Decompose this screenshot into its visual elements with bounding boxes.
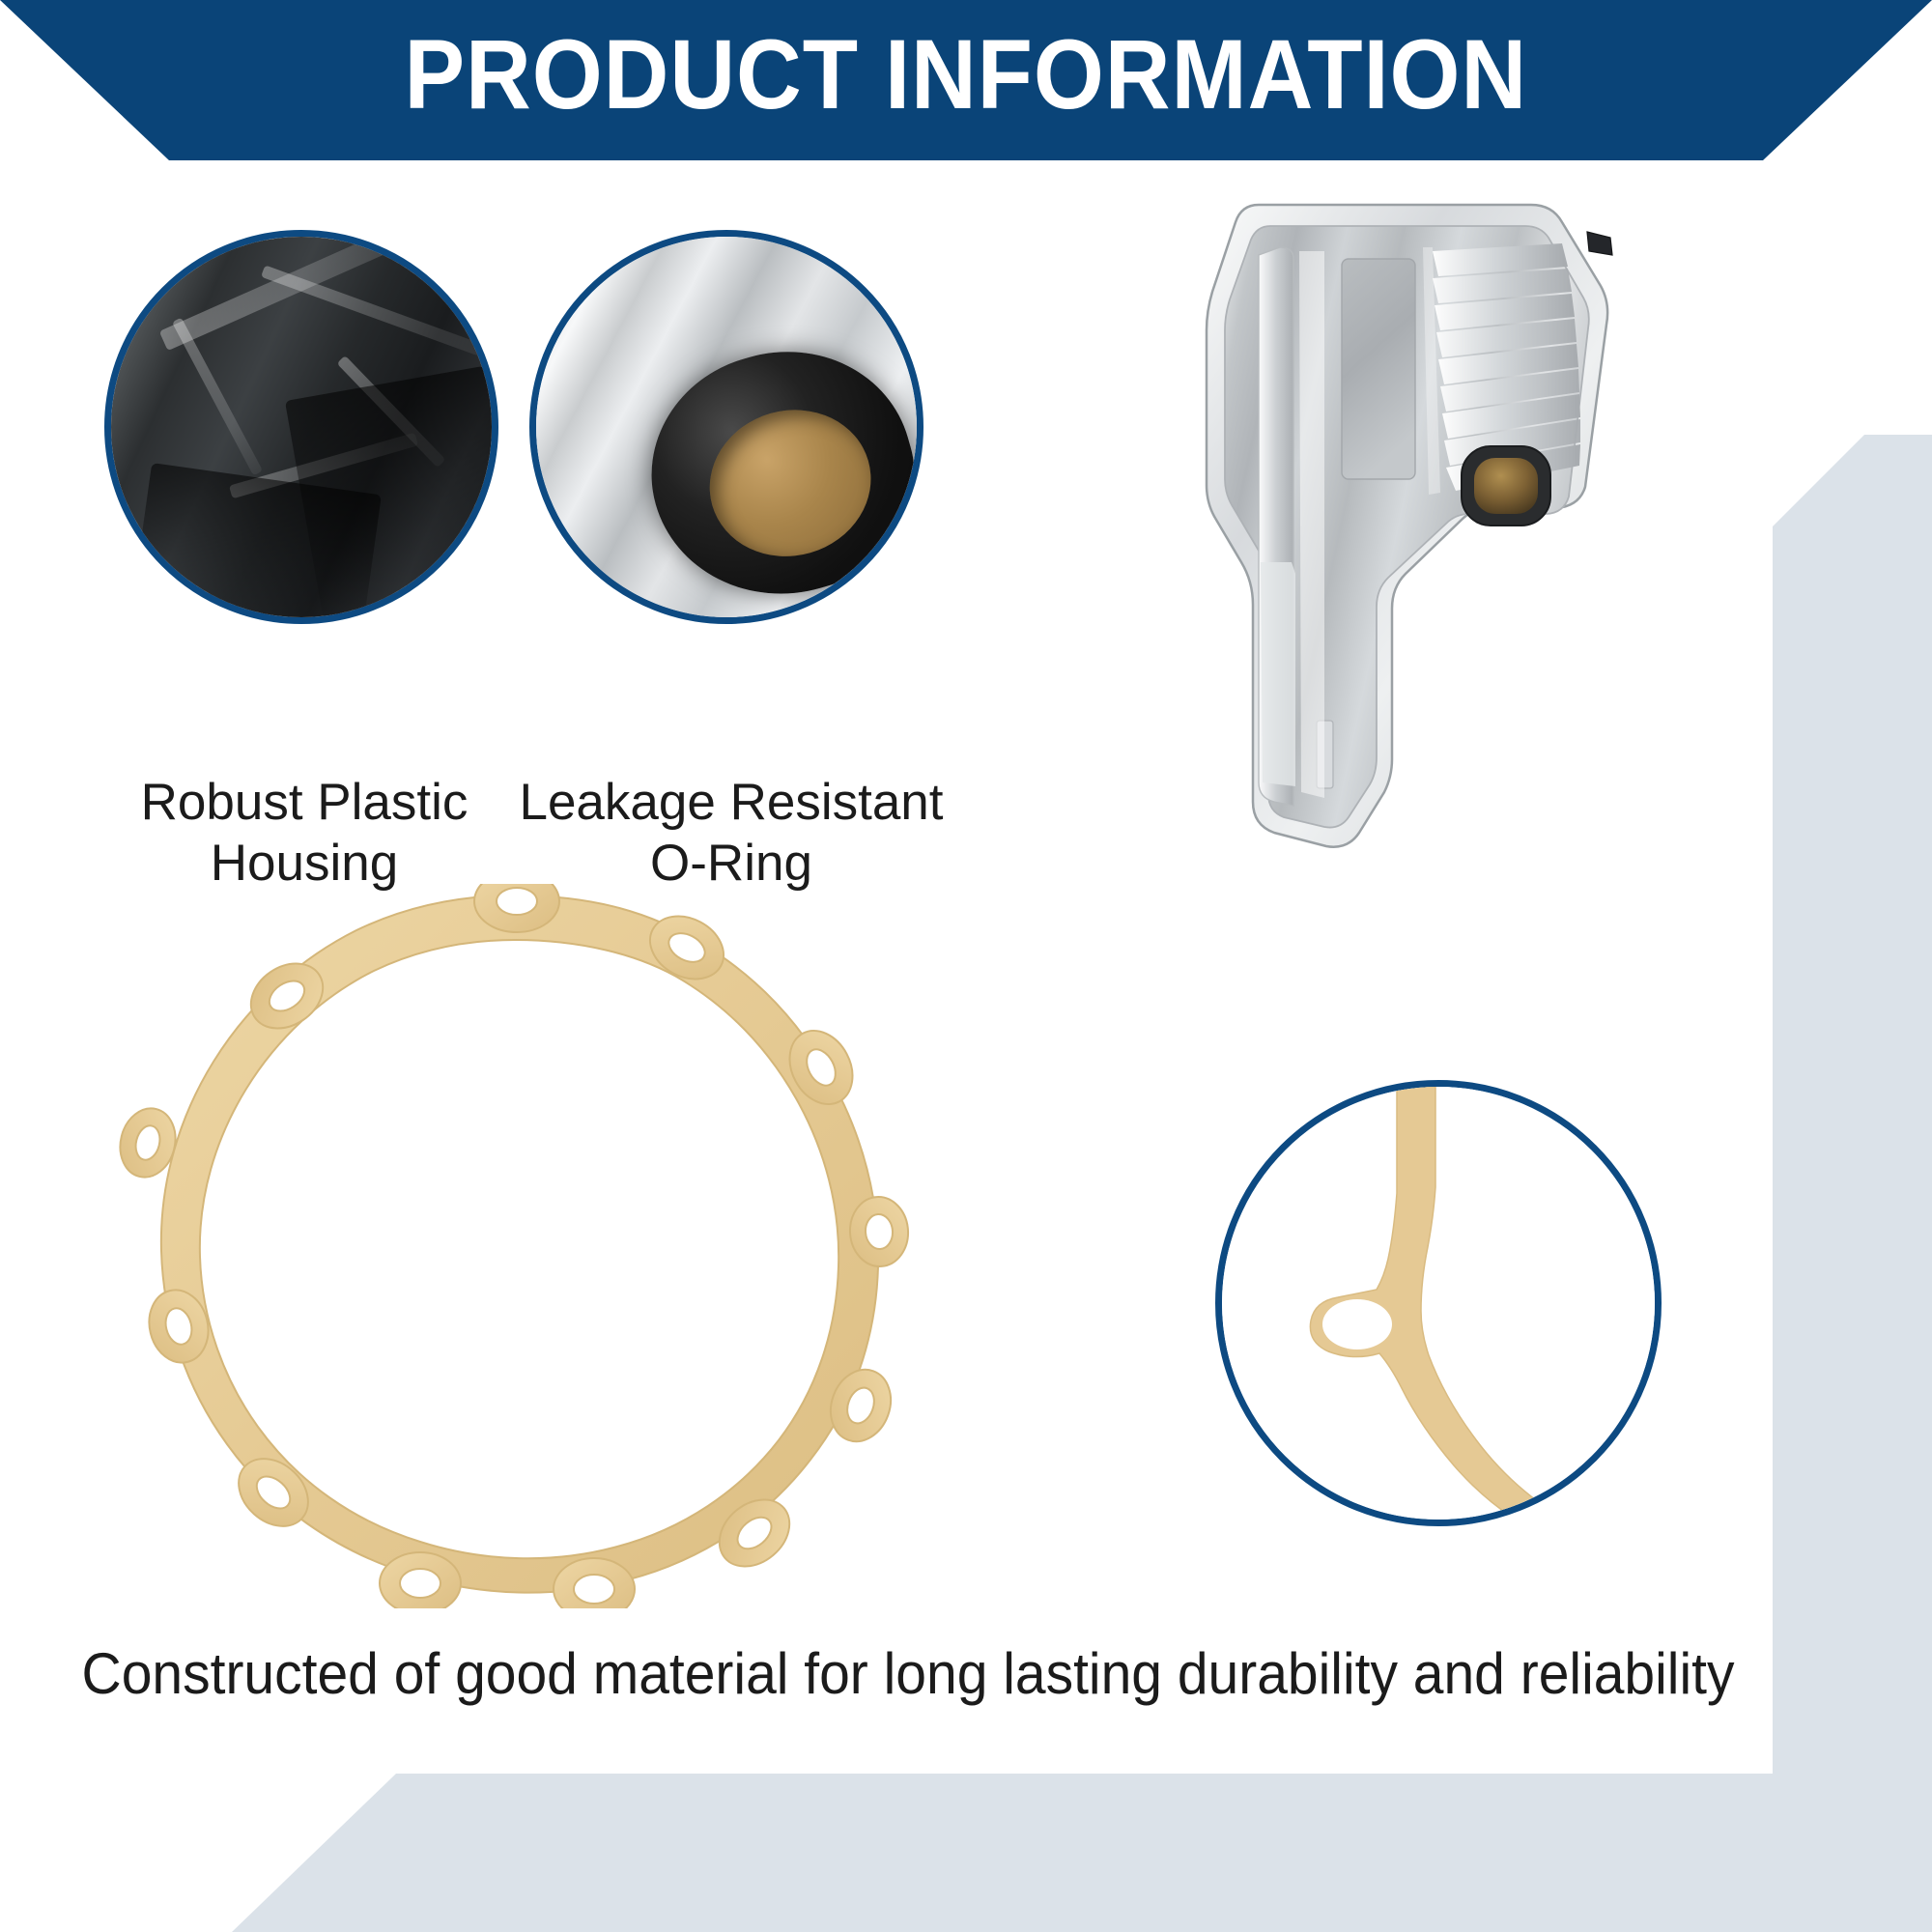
gasket-bolt-hole-detail [1322,1299,1392,1350]
product-image-transmission-filter [1203,184,1618,850]
plastic-housing-photo [111,237,492,617]
gasket-detail-svg [1222,1087,1662,1526]
filter-highlight-left [1299,251,1324,798]
callout-label-plastic-housing: Robust Plastic Housing [68,773,541,894]
page-title: PRODUCT INFORMATION [405,25,1528,124]
callout-label-oring: Leakage Resistant O-Ring [495,773,968,894]
filter-oring-port [1462,446,1550,526]
gasket-svg [111,884,913,1608]
filter-center-plate [1342,259,1415,479]
decorative-panel-right [1773,435,1932,1932]
oring-bore [693,391,889,575]
callout-image-plastic-housing [104,230,498,624]
header-banner: PRODUCT INFORMATION [0,0,1932,160]
callout-image-gasket-detail [1215,1080,1662,1526]
bottom-caption: Constructed of good material for long la… [45,1642,1771,1706]
gasket-body [113,884,910,1608]
transmission-filter-svg [1203,184,1618,850]
product-image-gasket [111,884,913,1608]
filter-retaining-clip [1587,232,1612,255]
filter-label-patch [1261,562,1295,786]
gasket-detail-photo [1222,1087,1655,1520]
decorative-panel-bottom [0,1774,1932,1932]
callout-image-oring [529,230,923,624]
oring-photo [536,237,917,617]
